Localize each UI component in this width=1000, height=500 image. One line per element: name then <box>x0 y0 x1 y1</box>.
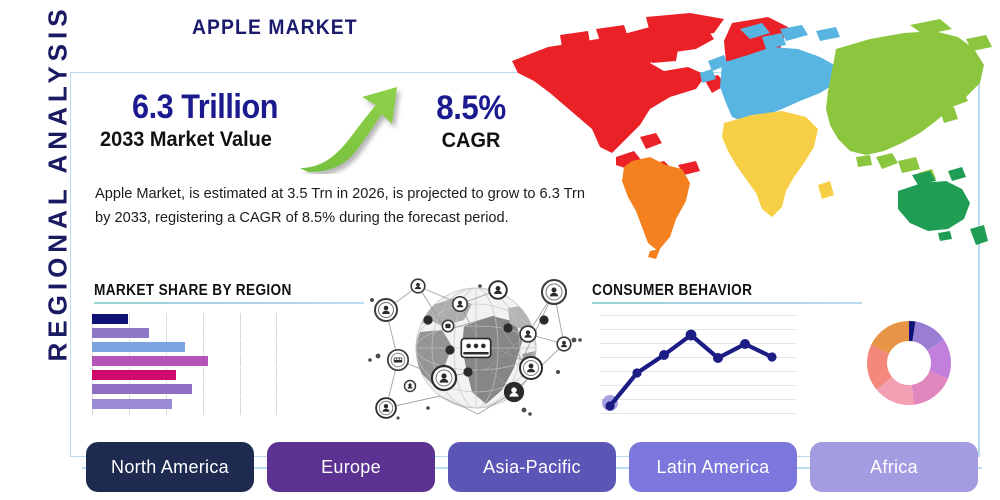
market-value-caption: 2033 Market Value <box>100 128 272 152</box>
region-button-africa[interactable]: Africa <box>810 442 978 492</box>
region-button-north-america[interactable]: North America <box>86 442 254 492</box>
growth-arrow-icon <box>296 84 406 174</box>
region-button-asia-pacific[interactable]: Asia-Pacific <box>448 442 616 492</box>
infographic-canvas: REGIONAL ANALYSIS APPLE MARKET 6.3 Trill… <box>0 0 1000 500</box>
region-button-label: Africa <box>870 457 918 478</box>
vertical-section-label: REGIONAL ANALYSIS <box>43 62 74 362</box>
consumer-behavior-line-chart <box>600 313 796 415</box>
region-button-bar: North America Europe Asia-Pacific Latin … <box>82 442 982 494</box>
world-map-icon <box>500 5 1000 270</box>
table-row <box>92 370 176 380</box>
section-title-market-share: MARKET SHARE BY REGION <box>94 282 292 300</box>
consumer-behavior-donut-chart <box>856 310 962 416</box>
market-value-number: 6.3 Trillion <box>132 88 278 127</box>
global-network-globe-icon <box>368 268 584 428</box>
region-button-label: Europe <box>321 457 381 478</box>
region-button-label: Latin America <box>657 457 770 478</box>
section-rule-market-share <box>94 302 364 304</box>
section-title-consumer-behavior: CONSUMER BEHAVIOR <box>592 282 752 300</box>
section-rule-consumer-behavior <box>592 302 862 304</box>
region-button-label: Asia-Pacific <box>483 457 581 478</box>
market-share-bar-chart <box>92 313 277 415</box>
table-row <box>92 342 185 352</box>
page-title: APPLE MARKET <box>192 16 358 40</box>
table-row <box>92 356 208 366</box>
region-button-europe[interactable]: Europe <box>267 442 435 492</box>
region-button-latin-america[interactable]: Latin America <box>629 442 797 492</box>
region-button-label: North America <box>111 457 229 478</box>
table-row <box>92 314 128 324</box>
table-row <box>92 384 192 394</box>
table-row <box>92 399 172 409</box>
table-row <box>92 328 149 338</box>
